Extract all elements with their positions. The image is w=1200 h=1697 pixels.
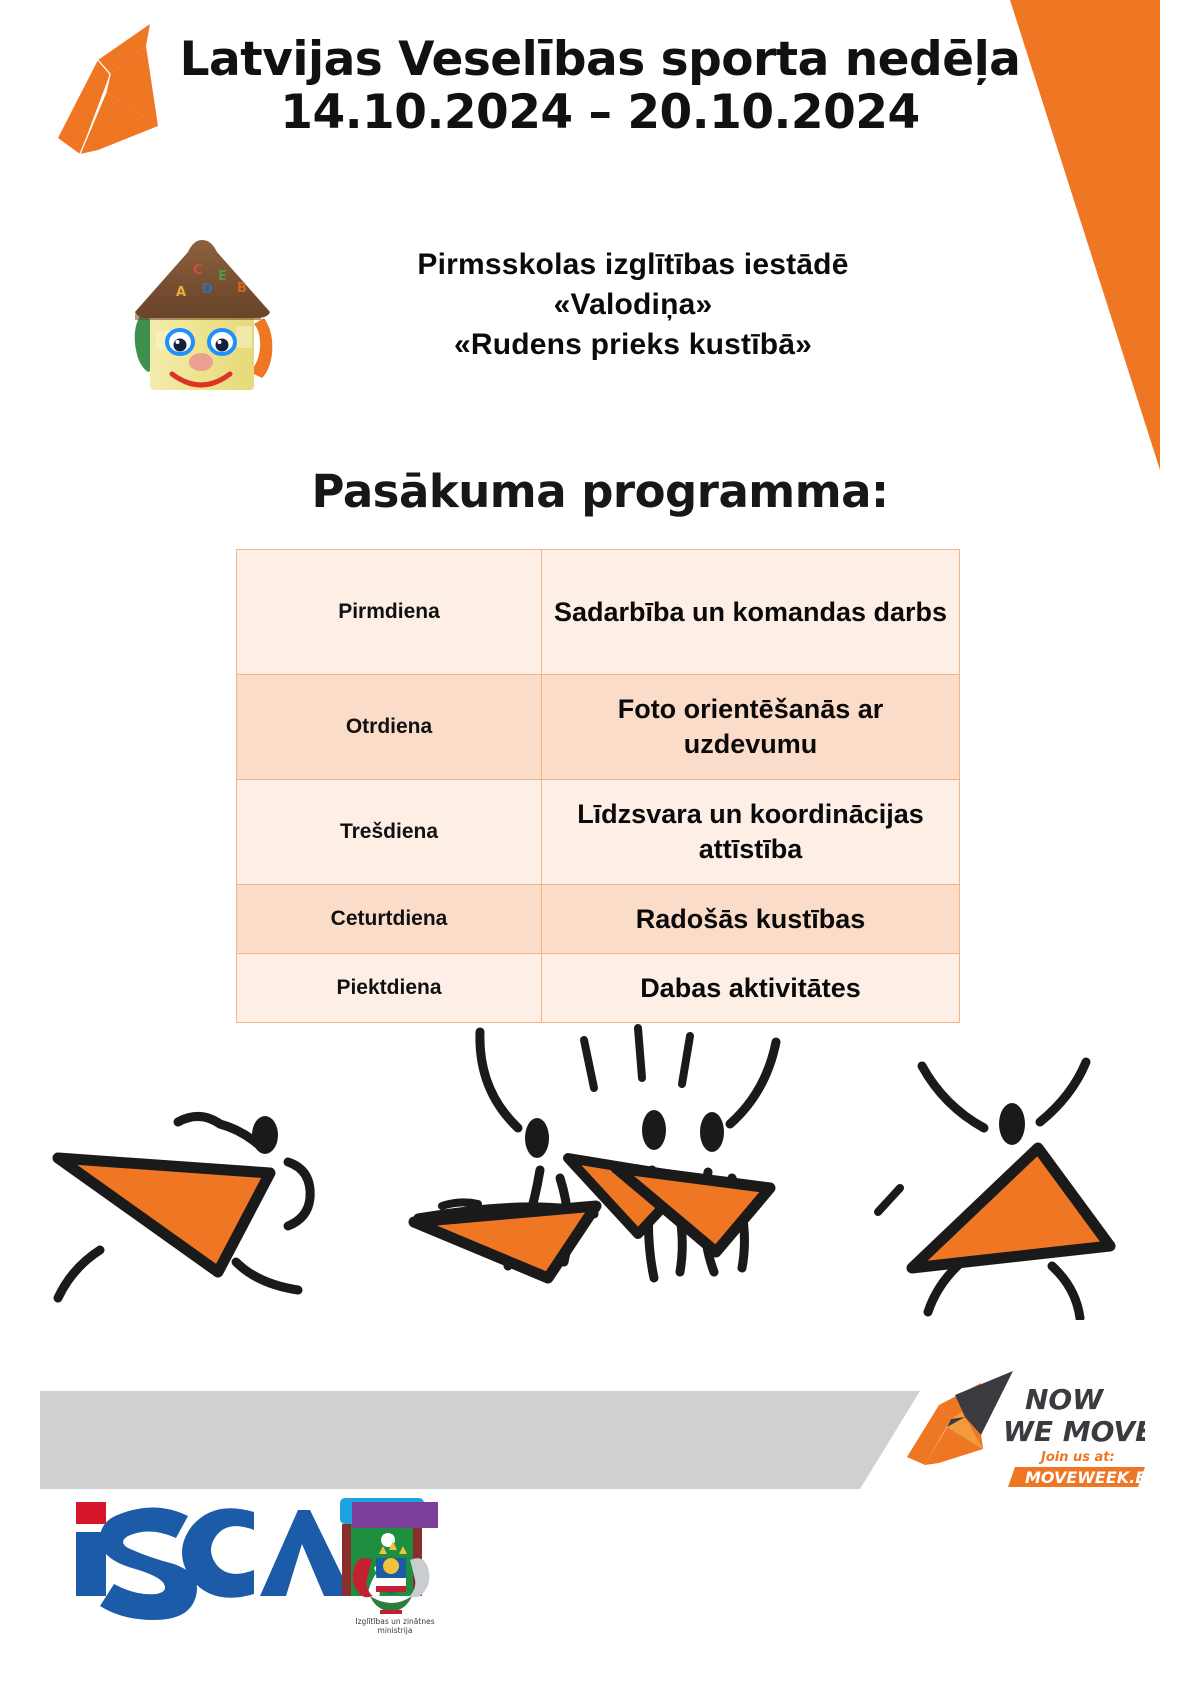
activity-cell: Līdzsvara un koordinācijas attīstība (542, 780, 960, 885)
kindergarten-house-mascot-icon: A B C D E (118, 238, 288, 390)
title-line-2: 14.10.2024 – 20.10.2024 (150, 87, 1050, 140)
table-row: Trešdiena Līdzsvara un koordinācijas att… (237, 780, 960, 885)
activity-cell: Sadarbība un komandas darbs (542, 550, 960, 675)
program-table: Pirmdiena Sadarbība un komandas darbs Ot… (236, 549, 960, 1023)
svg-text:D: D (202, 282, 213, 297)
now-we-move-line-1: NOW (1025, 1383, 1104, 1416)
isca-logo (76, 1502, 352, 1620)
svg-text:E: E (218, 269, 227, 284)
active-people-illustration (40, 1010, 1160, 1320)
title-line-1: Latvijas Veselības sporta nedēļa (150, 34, 1050, 87)
figure-group-center (414, 1028, 900, 1278)
subtitle-line-3: «Rudens prieks kustībā» (268, 325, 998, 365)
poster-root: Latvijas Veselības sporta nedēļa 14.10.2… (40, 0, 1160, 1697)
subtitle-line-1: Pirmsskolas izglītības iestādē (268, 245, 998, 285)
ministry-line-2: ministrija (378, 1626, 413, 1635)
now-we-move-logo: NOW WE MOVE Join us at: MOVEWEEK.EU (895, 1365, 1145, 1490)
ministry-line-1: Izglītības un zinātnes (355, 1617, 434, 1626)
figure-star-jump (912, 1062, 1110, 1318)
moveweek-url: MOVEWEEK.EU (1025, 1468, 1145, 1487)
table-row: Pirmdiena Sadarbība un komandas darbs (237, 550, 960, 675)
activity-cell: Radošās kustības (542, 885, 960, 954)
latvia-coat-of-arms-icon (353, 1541, 430, 1614)
day-cell: Trešdiena (237, 780, 542, 885)
svg-text:C: C (193, 263, 203, 278)
now-we-move-arrow-icon (907, 1371, 1013, 1465)
figure-runner (58, 1116, 310, 1298)
program-table-body: Pirmdiena Sadarbība un komandas darbs Ot… (237, 550, 960, 1023)
subtitle-line-2: «Valodiņa» (268, 285, 998, 325)
join-us-label: Join us at: (1038, 1450, 1115, 1465)
now-we-move-line-2: WE MOVE (1003, 1415, 1145, 1448)
poster-title: Latvijas Veselības sporta nedēļa 14.10.2… (150, 34, 1050, 139)
day-cell: Ceturtdiena (237, 885, 542, 954)
table-row: Ceturtdiena Radošās kustības (237, 885, 960, 954)
poster-subtitle: Pirmsskolas izglītības iestādē «Valodiņa… (268, 245, 998, 365)
ministry-of-education-logo: Izglītības un zinātnes ministrija (336, 1500, 454, 1640)
day-cell: Pirmdiena (237, 550, 542, 675)
program-heading: Pasākuma programma: (40, 465, 1160, 518)
day-cell: Otrdiena (237, 675, 542, 780)
svg-text:B: B (237, 281, 247, 296)
table-row: Otrdiena Foto orientēšanās ar uzdevumu (237, 675, 960, 780)
svg-text:A: A (176, 285, 186, 300)
activity-cell: Foto orientēšanās ar uzdevumu (542, 675, 960, 780)
